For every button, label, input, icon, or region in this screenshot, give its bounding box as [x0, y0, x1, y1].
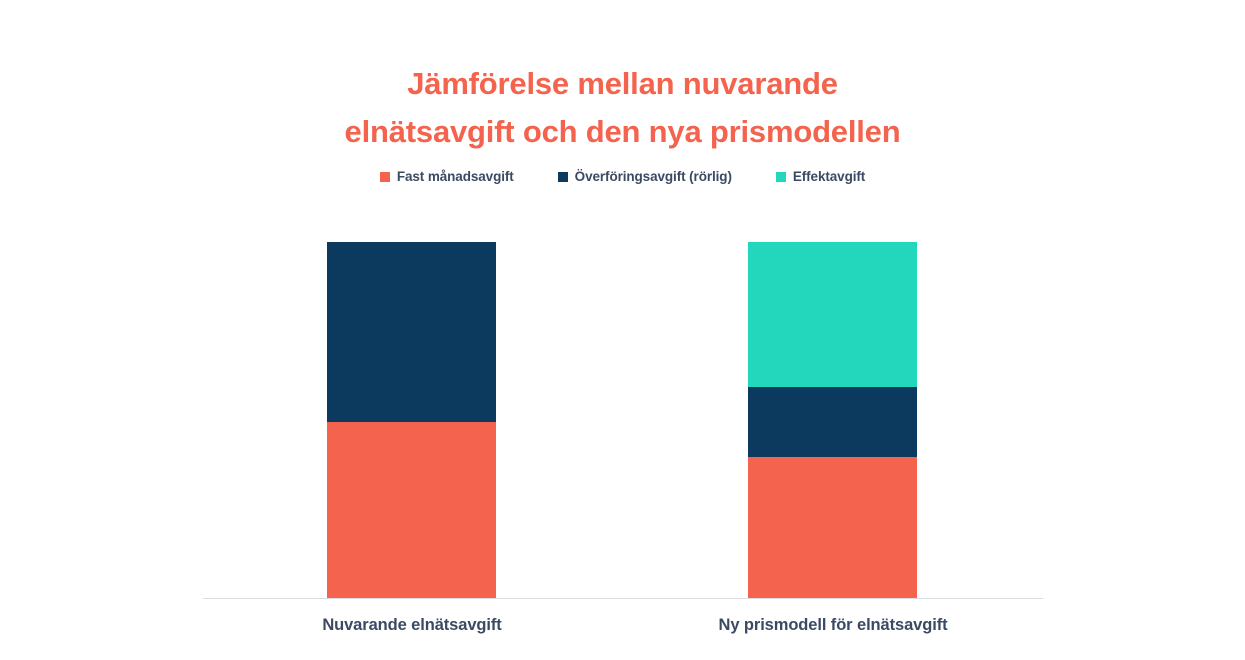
chart-container: Jämförelse mellan nuvarande elnätsavgift…	[0, 0, 1245, 660]
bar-segment-fast-manadsavgift[interactable]	[748, 457, 917, 598]
bar-segment-effektavgift[interactable]	[748, 242, 917, 387]
bar-segment-overforingsavgift[interactable]	[327, 242, 496, 422]
x-axis-line	[203, 598, 1043, 599]
x-axis-label-nuvarande: Nuvarande elnätsavgift	[262, 616, 562, 635]
bar-segment-overforingsavgift[interactable]	[748, 387, 917, 457]
x-axis-label-ny-prismodell: Ny prismodell för elnätsavgift	[683, 616, 983, 635]
plot-area: Nuvarande elnätsavgift Ny prismodell för…	[0, 0, 1245, 660]
bar-segment-fast-manadsavgift[interactable]	[327, 422, 496, 598]
